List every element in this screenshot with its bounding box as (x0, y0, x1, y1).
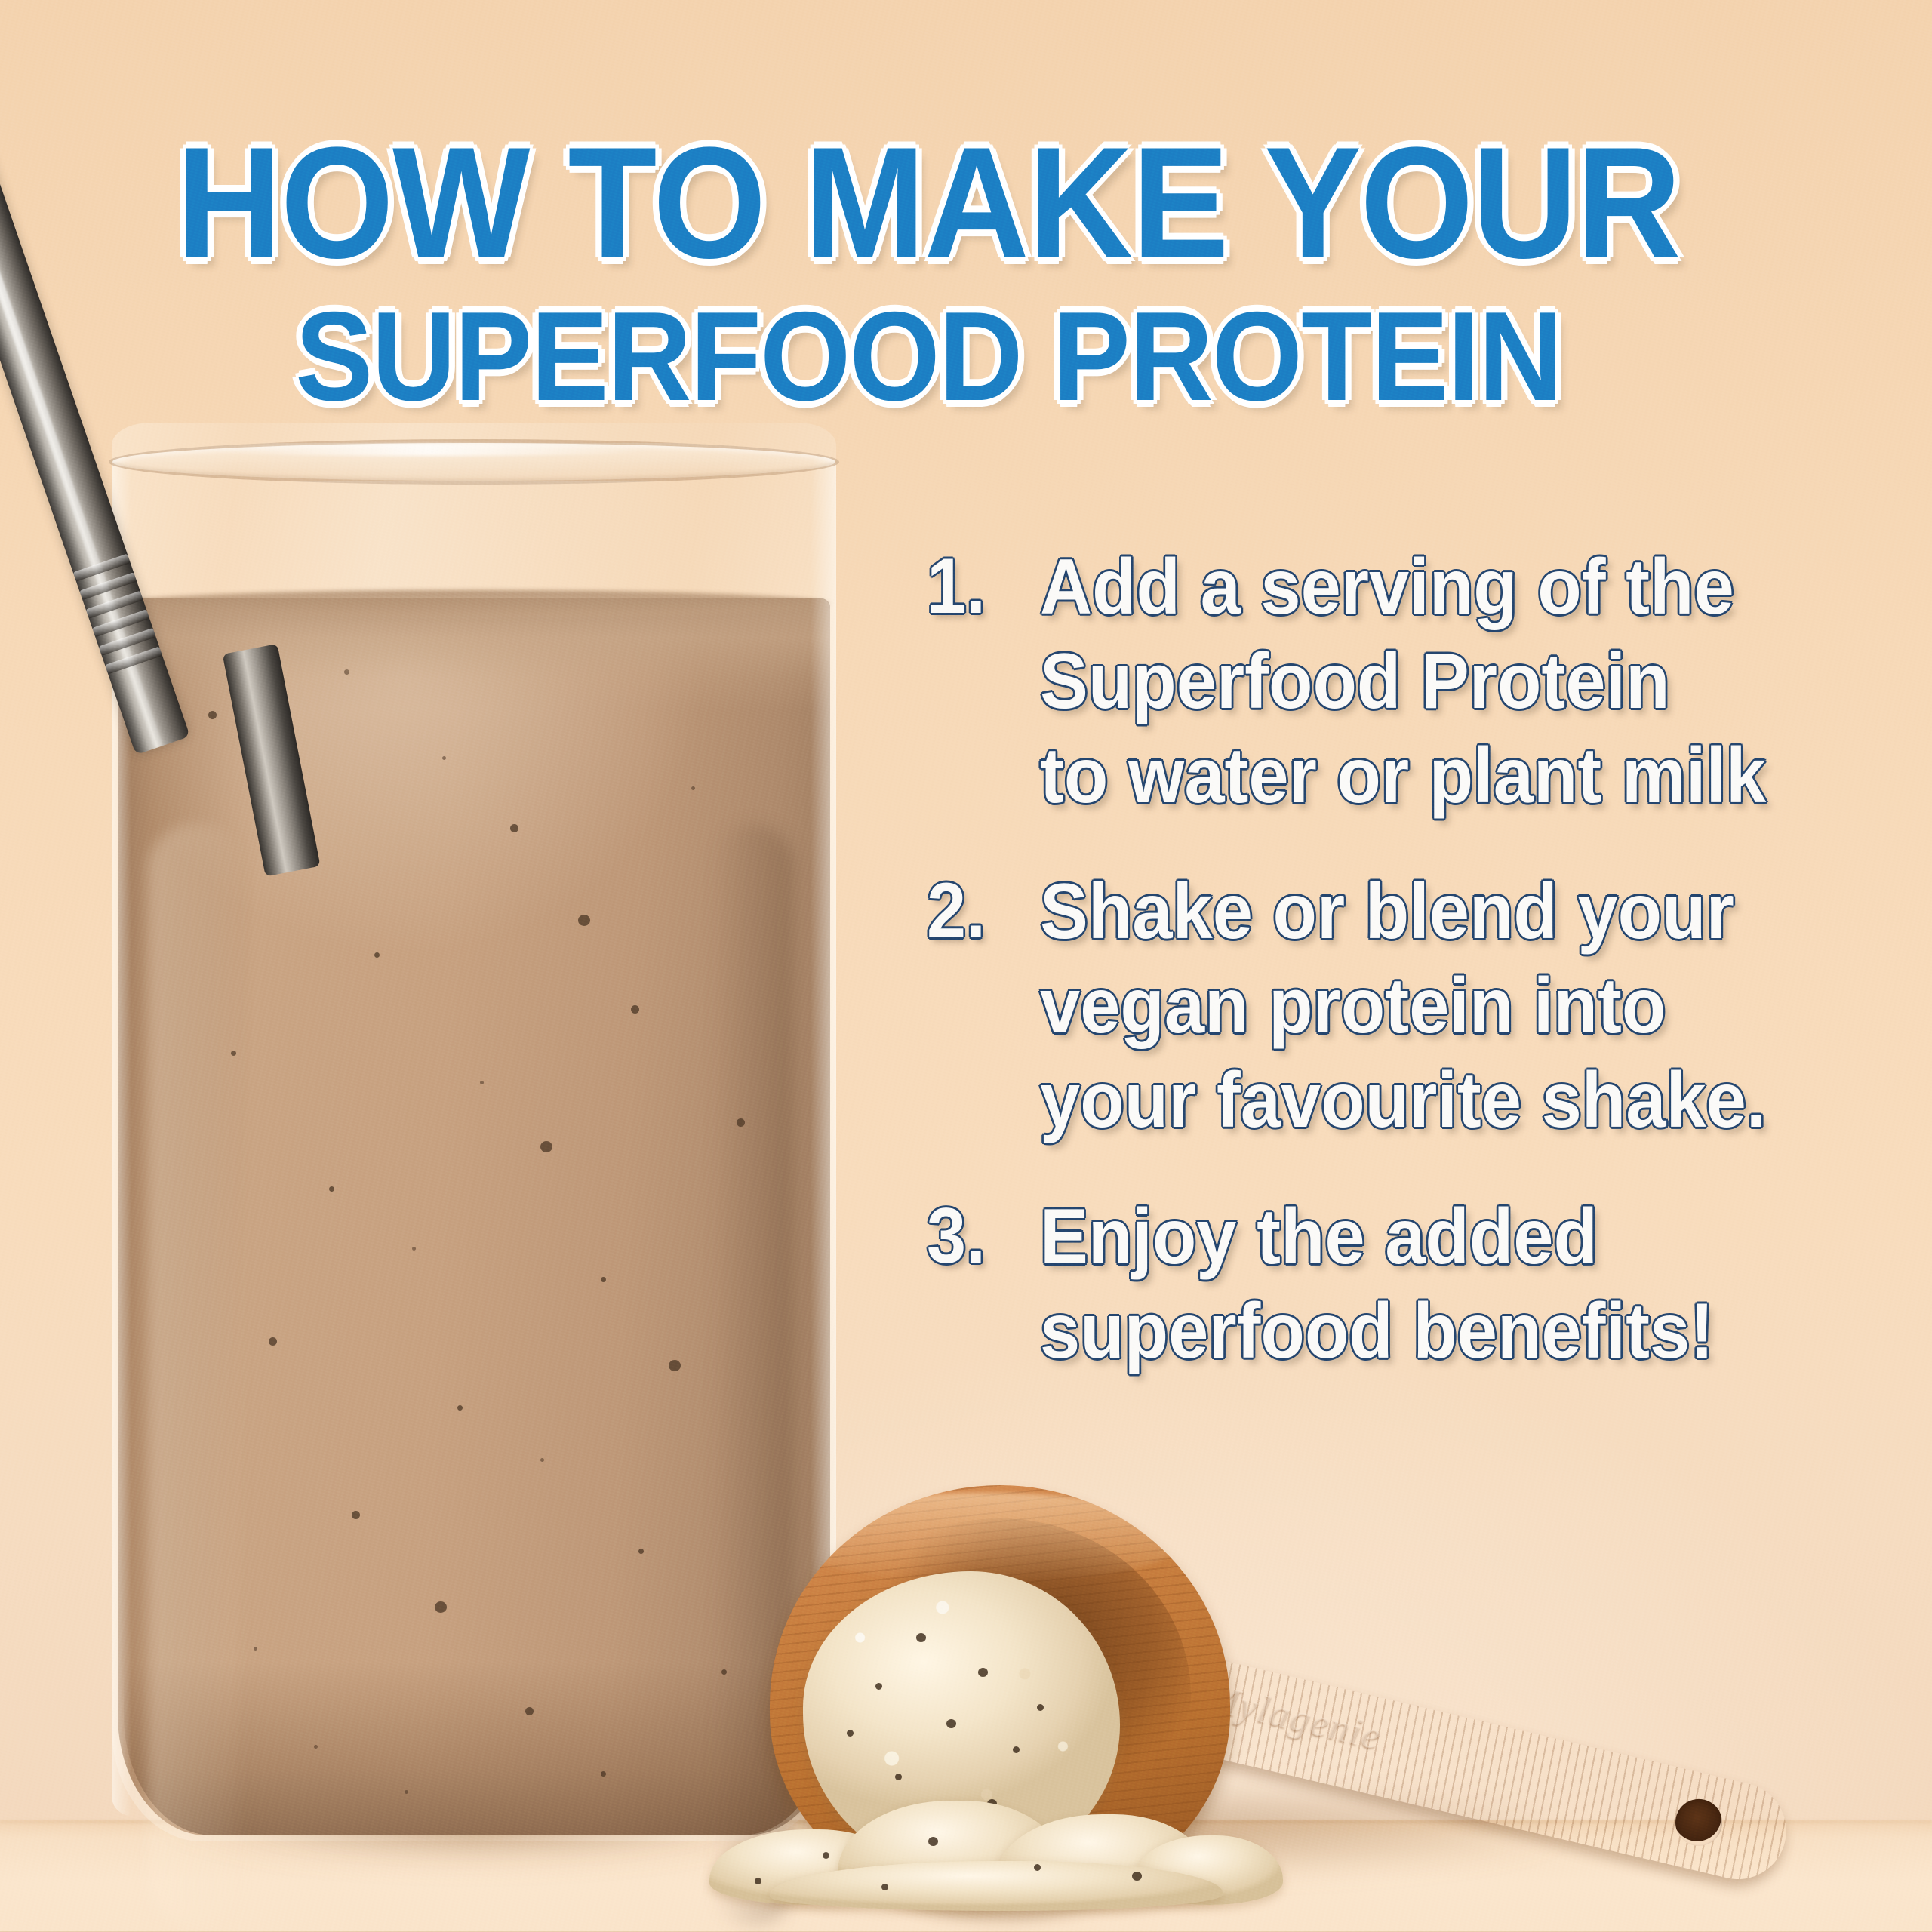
step-text: Shake or blend your vegan protein into y… (1040, 865, 1900, 1147)
page-title: HOW TO MAKE YOUR SUPERFOOD PROTEIN (0, 127, 1857, 417)
step-number: 2. (927, 865, 1029, 1147)
step-text: Enjoy the added superfood benefits! (1040, 1190, 1900, 1379)
list-item: 3. Enjoy the added superfood benefits! (927, 1190, 1900, 1379)
smoothie-liquid (118, 598, 830, 1835)
bowl-rim-highlight (786, 1493, 1186, 1583)
poster-canvas: Mylagenie (0, 0, 1932, 1932)
step-text-line: superfood benefits! (1040, 1284, 1832, 1379)
step-number: 3. (927, 1190, 1029, 1379)
step-text-line: Superfood Protein (1040, 635, 1832, 729)
step-text-line: Shake or blend your (1040, 865, 1832, 959)
list-item: 1. Add a serving of the Superfood Protei… (927, 540, 1900, 823)
title-line-2: SUPERFOOD PROTEIN (74, 296, 1782, 417)
instruction-list: 1. Add a serving of the Superfood Protei… (927, 540, 1900, 1420)
step-text-line: Enjoy the added (1040, 1190, 1832, 1284)
step-text-line: to water or plant milk (1040, 729, 1832, 823)
list-item: 2. Shake or blend your vegan protein int… (927, 865, 1900, 1147)
step-text-line: Add a serving of the (1040, 540, 1832, 635)
step-text-line: your favourite shake. (1040, 1054, 1832, 1148)
step-text-line: vegan protein into (1040, 959, 1832, 1054)
step-number: 1. (927, 540, 1029, 823)
smoothie-glass (112, 423, 836, 1857)
title-line-1: HOW TO MAKE YOUR (74, 127, 1782, 279)
step-text: Add a serving of the Superfood Protein t… (1040, 540, 1900, 823)
spilled-powder (679, 1789, 1298, 1917)
liquid-highlight-left (148, 824, 246, 1926)
liquid-surface-ellipse (118, 590, 830, 617)
glass-rim-highlight (202, 444, 655, 456)
